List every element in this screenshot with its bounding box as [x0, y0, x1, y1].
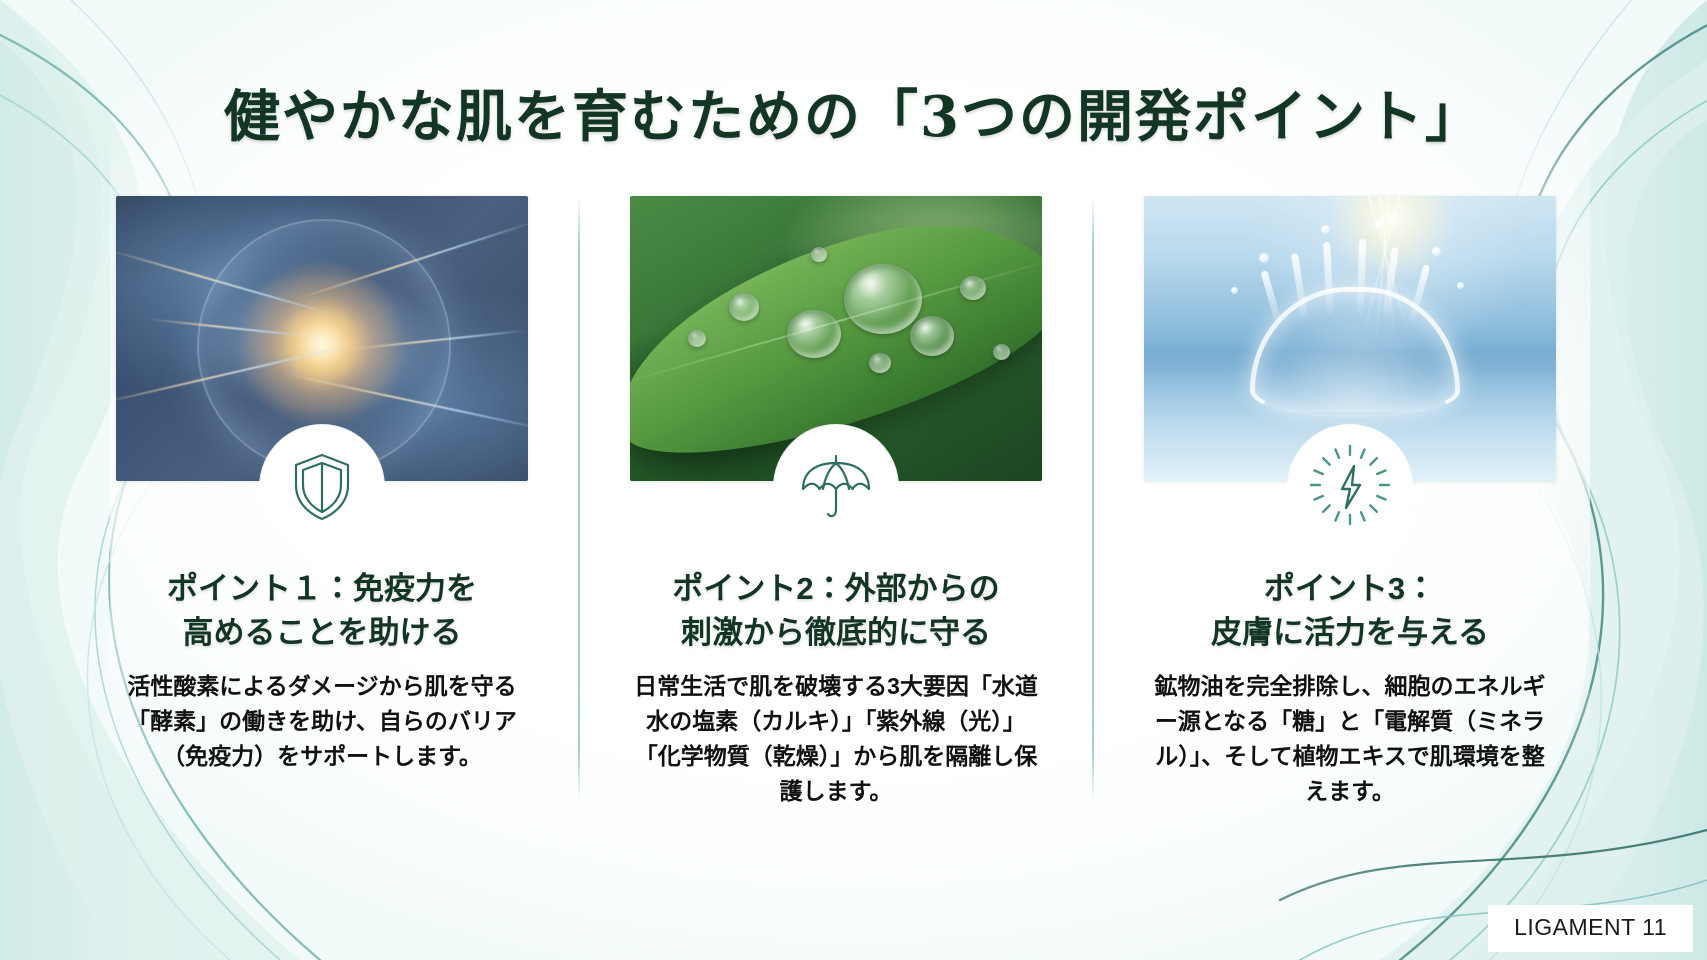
umbrella-icon	[799, 452, 873, 522]
column-divider-2	[1092, 196, 1094, 801]
lightning-burst-icon	[1307, 444, 1393, 530]
point-card-2-body: 日常生活で肌を破壊する3大要因「水道水の塩素（カルキ）」「紫外線（光）」「化学物…	[630, 669, 1042, 809]
column-divider-1	[578, 196, 580, 801]
point-card-2-heading: ポイント2：外部からの 刺激から徹底的に守る	[672, 567, 999, 655]
point-card-3-body: 鉱物油を完全排除し、細胞のエネルギー源となる「糖」と「電解質（ミネラル）」、そし…	[1144, 669, 1556, 809]
point-card-3-heading: ポイント3： 皮膚に活力を与える	[1211, 567, 1489, 655]
slide-canvas: 健やかな肌を育むための「3つの開発ポイント」	[0, 0, 1707, 960]
lightning-burst-icon-badge	[1288, 425, 1412, 549]
shield-icon-badge	[260, 425, 384, 549]
points-row: ポイント１：免疫力を 高めることを助ける 活性酸素によるダメージから肌を守る「酵…	[96, 196, 1576, 836]
page-title: 健やかな肌を育むための「3つの開発ポイント」	[0, 72, 1707, 153]
point-card-3: ポイント3： 皮膚に活力を与える 鉱物油を完全排除し、細胞のエネルギー源となる「…	[1124, 196, 1576, 809]
umbrella-icon-badge	[774, 425, 898, 549]
point-card-1: ポイント１：免疫力を 高めることを助ける 活性酸素によるダメージから肌を守る「酵…	[96, 196, 548, 774]
point-card-1-heading: ポイント１：免疫力を 高めることを助ける	[167, 567, 477, 655]
shield-icon	[291, 452, 353, 522]
footer-badge: LIGAMENT 11	[1488, 905, 1693, 952]
point-card-2: ポイント2：外部からの 刺激から徹底的に守る 日常生活で肌を破壊する3大要因「水…	[610, 196, 1062, 809]
point-card-1-body: 活性酸素によるダメージから肌を守る「酵素」の働きを助け、自らのバリア（免疫力）を…	[116, 669, 528, 774]
